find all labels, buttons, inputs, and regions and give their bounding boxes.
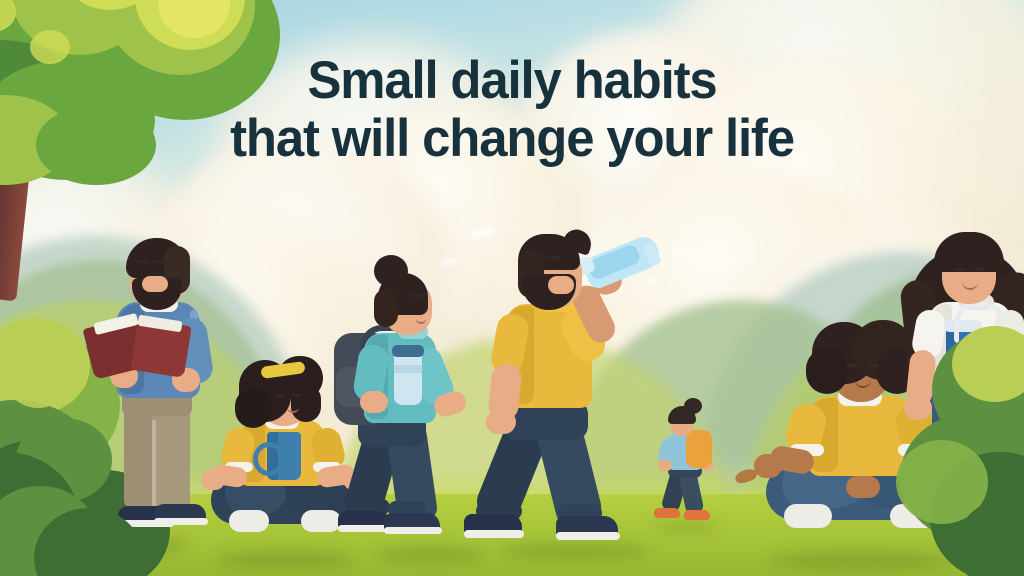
- sock-foot: [301, 510, 341, 532]
- hand: [904, 396, 932, 420]
- foot: [846, 476, 880, 498]
- sneaker: [784, 504, 832, 528]
- hair-afro: [806, 348, 848, 394]
- eye: [140, 267, 146, 272]
- hand: [486, 410, 516, 434]
- mouth-area: [142, 276, 168, 292]
- figure-background-child: [652, 404, 722, 526]
- hair-bun: [374, 255, 408, 287]
- hair-back: [374, 289, 398, 327]
- figure-drinking-man: [480, 228, 670, 548]
- sock-foot: [229, 510, 269, 532]
- eye-closed: [293, 394, 302, 397]
- backpack: [686, 430, 712, 468]
- hand-mudra: [754, 454, 782, 478]
- mouth-area: [548, 276, 574, 294]
- trouser-seam: [152, 420, 156, 508]
- travel-cup: [394, 351, 422, 405]
- shoe: [654, 508, 680, 518]
- hair-curly: [235, 388, 271, 428]
- shoe: [684, 510, 710, 520]
- eye-closed: [275, 394, 284, 397]
- eye-closed: [846, 364, 857, 367]
- shoe-sole: [154, 518, 208, 525]
- hair-bun: [684, 398, 702, 414]
- cup-band: [394, 365, 422, 373]
- eye-closed: [954, 268, 965, 271]
- hand: [658, 460, 672, 471]
- hand-mudra: [201, 470, 225, 490]
- eyebrow: [154, 260, 167, 263]
- shoe-sole: [464, 530, 524, 538]
- eye: [552, 264, 558, 270]
- eyebrow: [136, 260, 149, 263]
- eyebrow: [410, 294, 423, 297]
- cup-lid: [392, 345, 424, 357]
- eye-closed: [974, 268, 985, 271]
- hand-holding-bottle: [986, 376, 1020, 402]
- eye-closed: [868, 364, 879, 367]
- mug-handle: [253, 442, 285, 476]
- figure-woman-water-bottle: [908, 230, 1024, 530]
- figure-walking-woman-backpack: [340, 255, 480, 545]
- hand: [360, 391, 388, 413]
- eye: [414, 301, 420, 306]
- eye: [156, 267, 162, 272]
- eyebrow: [546, 256, 561, 259]
- jeans-seam: [968, 406, 972, 502]
- illustration-canvas: Small daily habits that will change your…: [0, 0, 1024, 576]
- shoe-sole: [556, 532, 620, 540]
- bush-highlight: [6, 352, 70, 408]
- shoe-sole: [384, 527, 442, 534]
- hair-curly: [291, 384, 321, 422]
- bottle-strap: [954, 302, 1006, 343]
- hair-front: [934, 232, 1004, 272]
